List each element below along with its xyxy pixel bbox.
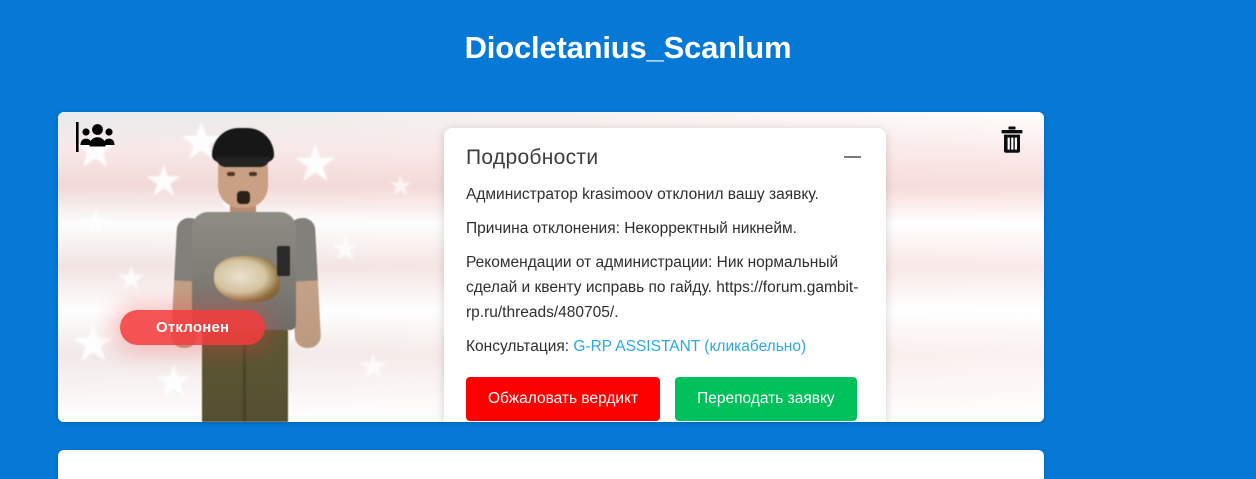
- consultation-row: Консультация: G-RP ASSISTANT (кликабельн…: [466, 334, 864, 359]
- recommendation-text: Рекомендации от администрации: Ник норма…: [466, 250, 864, 325]
- status-badge[interactable]: Отклонен: [120, 310, 265, 345]
- application-card: ★ ★ ★ ★ ★ ★ ★ ★ ★ ★ ★ ★ ★ ★: [58, 112, 1044, 422]
- rejection-reason-text: Причина отклонения: Некорректный никнейм…: [466, 216, 864, 241]
- details-header: Подробности: [466, 146, 864, 170]
- consultation-link[interactable]: G-RP ASSISTANT (кликабельно): [573, 338, 806, 355]
- character-eye-left: [227, 172, 235, 176]
- trash-icon[interactable]: [1000, 126, 1024, 154]
- appeal-verdict-button[interactable]: Обжаловать вердикт: [466, 377, 660, 421]
- decorative-star: ★: [70, 318, 117, 370]
- page-title: Diocletanius_Scanlum: [0, 0, 1256, 68]
- details-panel: Подробности Администратор krasimoov откл…: [444, 128, 886, 422]
- minus-icon[interactable]: [840, 146, 864, 168]
- character-figure: [166, 122, 356, 422]
- decorative-star: ★: [358, 350, 388, 384]
- admin-decision-text: Администратор krasimoov отклонил вашу за…: [466, 182, 864, 207]
- decorative-star: ★: [388, 172, 413, 200]
- resubmit-application-button[interactable]: Переподать заявку: [675, 377, 857, 421]
- character-eye-right: [249, 172, 257, 176]
- details-title: Подробности: [466, 146, 598, 170]
- action-buttons-row: Обжаловать вердикт Переподать заявку: [466, 377, 864, 421]
- consultation-label: Консультация:: [466, 338, 573, 355]
- shirt-print: [214, 256, 280, 302]
- decorative-star: ★: [80, 206, 110, 240]
- next-application-card[interactable]: [58, 450, 1044, 479]
- character-goatee: [237, 191, 250, 204]
- decorative-star: ★: [116, 262, 146, 296]
- shirt-sleeve-patch: [277, 246, 290, 276]
- people-group-icon[interactable]: [74, 122, 118, 152]
- character-cap: [212, 128, 274, 162]
- minimize-bar: [844, 156, 861, 158]
